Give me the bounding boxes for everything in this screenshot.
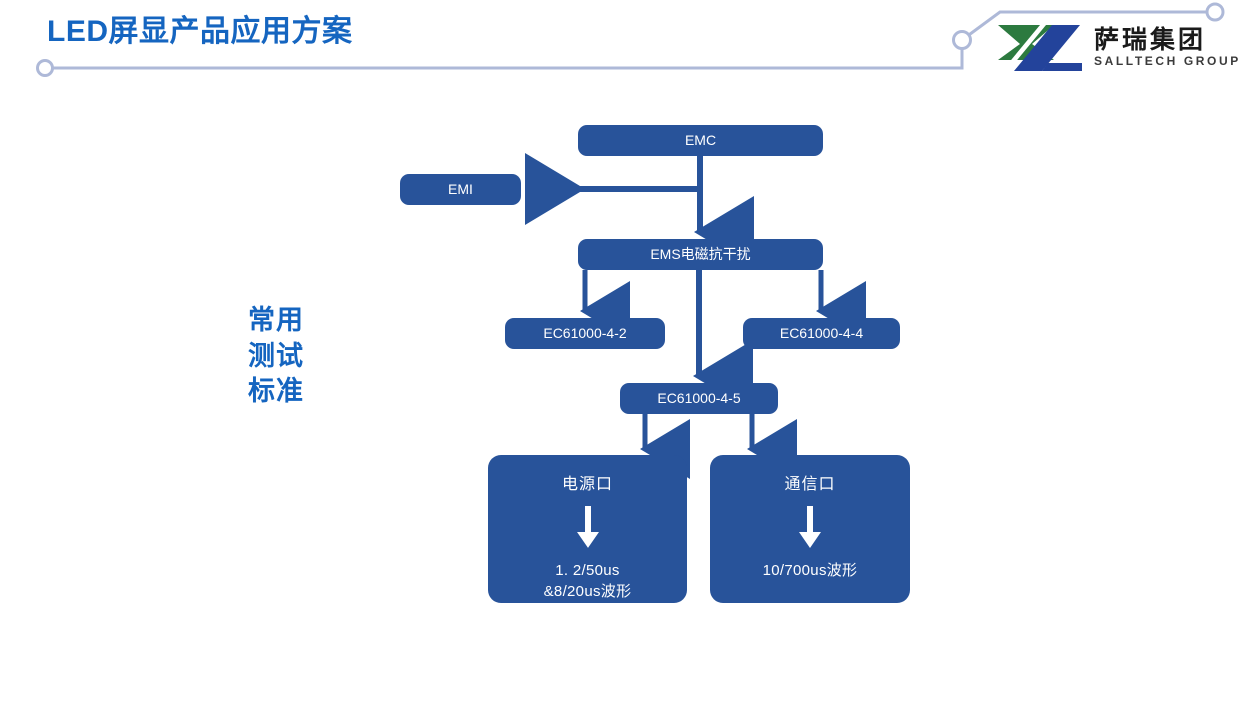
flow-node-ems[interactable]: EMS电磁抗干扰 (578, 239, 823, 270)
flow-node-emi[interactable]: EMI (400, 174, 521, 205)
flow-node-iec-4-5[interactable]: EC61000-4-5 (620, 383, 778, 414)
flow-node-iec-4-2-label: EC61000-4-2 (543, 324, 626, 343)
flow-node-emc[interactable]: EMC (578, 125, 823, 156)
flow-node-ems-label: EMS电磁抗干扰 (650, 245, 750, 264)
flow-node-power-port-sub-2: &8/20us波形 (544, 581, 632, 603)
emc-standards-flowchart: EMC EMI EMS电磁抗干扰 EC61000-4-2 EC61000-4-4… (0, 0, 1256, 705)
flow-node-power-port-title: 电源口 (562, 474, 613, 496)
flow-node-iec-4-5-label: EC61000-4-5 (657, 389, 740, 408)
flow-node-iec-4-2[interactable]: EC61000-4-2 (505, 318, 665, 349)
flow-node-power-port[interactable]: 电源口 1. 2/50us &8/20us波形 (488, 455, 687, 603)
flow-node-emi-label: EMI (448, 180, 473, 199)
down-arrow-icon (798, 506, 822, 548)
flow-node-power-port-sub-1: 1. 2/50us (555, 560, 619, 582)
flow-node-iec-4-4-label: EC61000-4-4 (780, 324, 863, 343)
flow-node-comm-port-title: 通信口 (784, 474, 835, 496)
flow-node-comm-port-sub-1: 10/700us波形 (763, 560, 858, 582)
flow-node-iec-4-4[interactable]: EC61000-4-4 (743, 318, 900, 349)
flow-node-emc-label: EMC (685, 131, 716, 150)
flow-node-comm-port[interactable]: 通信口 10/700us波形 (710, 455, 910, 603)
down-arrow-icon (576, 506, 600, 548)
